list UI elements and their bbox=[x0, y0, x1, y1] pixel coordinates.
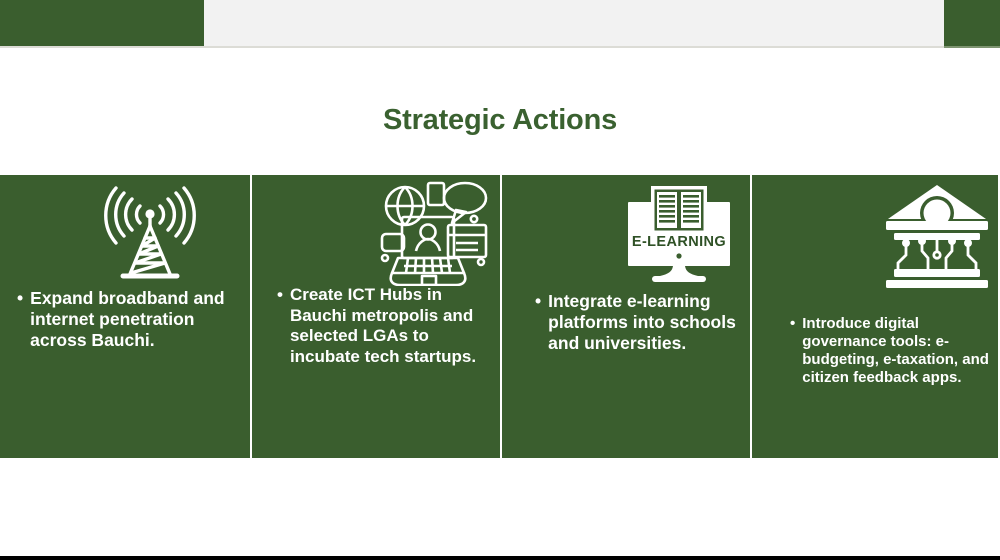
top-bar-divider bbox=[0, 46, 1000, 48]
ict-hub-laptop-icon bbox=[378, 178, 490, 286]
action-text: Introduce digital governance tools: e-bu… bbox=[802, 315, 995, 388]
top-bar-divider-green bbox=[944, 46, 1000, 48]
top-bar-green-left bbox=[0, 0, 204, 46]
action-bullet: • Create ICT Hubs in Bauchi metropolis a… bbox=[277, 285, 493, 367]
bullet-marker: • bbox=[790, 315, 795, 388]
bottom-edge-strip bbox=[0, 556, 1000, 560]
page-title: Strategic Actions bbox=[0, 104, 1000, 137]
action-card-ict-hubs[interactable]: • Create ICT Hubs in Bauchi metropolis a… bbox=[250, 175, 500, 458]
strategic-actions-band: • Expand broadband and internet penetrat… bbox=[0, 175, 1000, 458]
action-card-digital-governance[interactable]: • Introduce digital governance tools: e-… bbox=[750, 175, 1000, 458]
action-bullet: • Expand broadband and internet penetrat… bbox=[17, 288, 239, 352]
bullet-marker: • bbox=[535, 291, 541, 355]
digital-governance-building-icon bbox=[882, 183, 992, 289]
action-text: Create ICT Hubs in Bauchi metropolis and… bbox=[290, 285, 493, 367]
bullet-marker: • bbox=[17, 288, 23, 352]
action-card-e-learning[interactable]: E-LEARNING • Integrate e-learning platfo… bbox=[500, 175, 750, 458]
action-card-broadband[interactable]: • Expand broadband and internet penetrat… bbox=[0, 175, 250, 458]
bullet-marker: • bbox=[277, 285, 283, 367]
top-chrome-bar bbox=[0, 0, 1000, 46]
top-bar-green-right bbox=[944, 0, 1000, 46]
slide-canvas: Strategic Actions bbox=[0, 0, 1000, 560]
e-learning-label: E-LEARNING bbox=[632, 234, 726, 250]
action-bullet: • Integrate e-learning platforms into sc… bbox=[535, 291, 745, 355]
radio-tower-icon bbox=[90, 186, 210, 286]
top-bar-center-panel bbox=[204, 0, 944, 46]
action-text: Integrate e-learning platforms into scho… bbox=[548, 291, 745, 355]
action-bullet: • Introduce digital governance tools: e-… bbox=[790, 315, 995, 388]
action-text: Expand broadband and internet penetratio… bbox=[30, 288, 239, 352]
e-learning-monitor-icon: E-LEARNING bbox=[619, 184, 739, 288]
